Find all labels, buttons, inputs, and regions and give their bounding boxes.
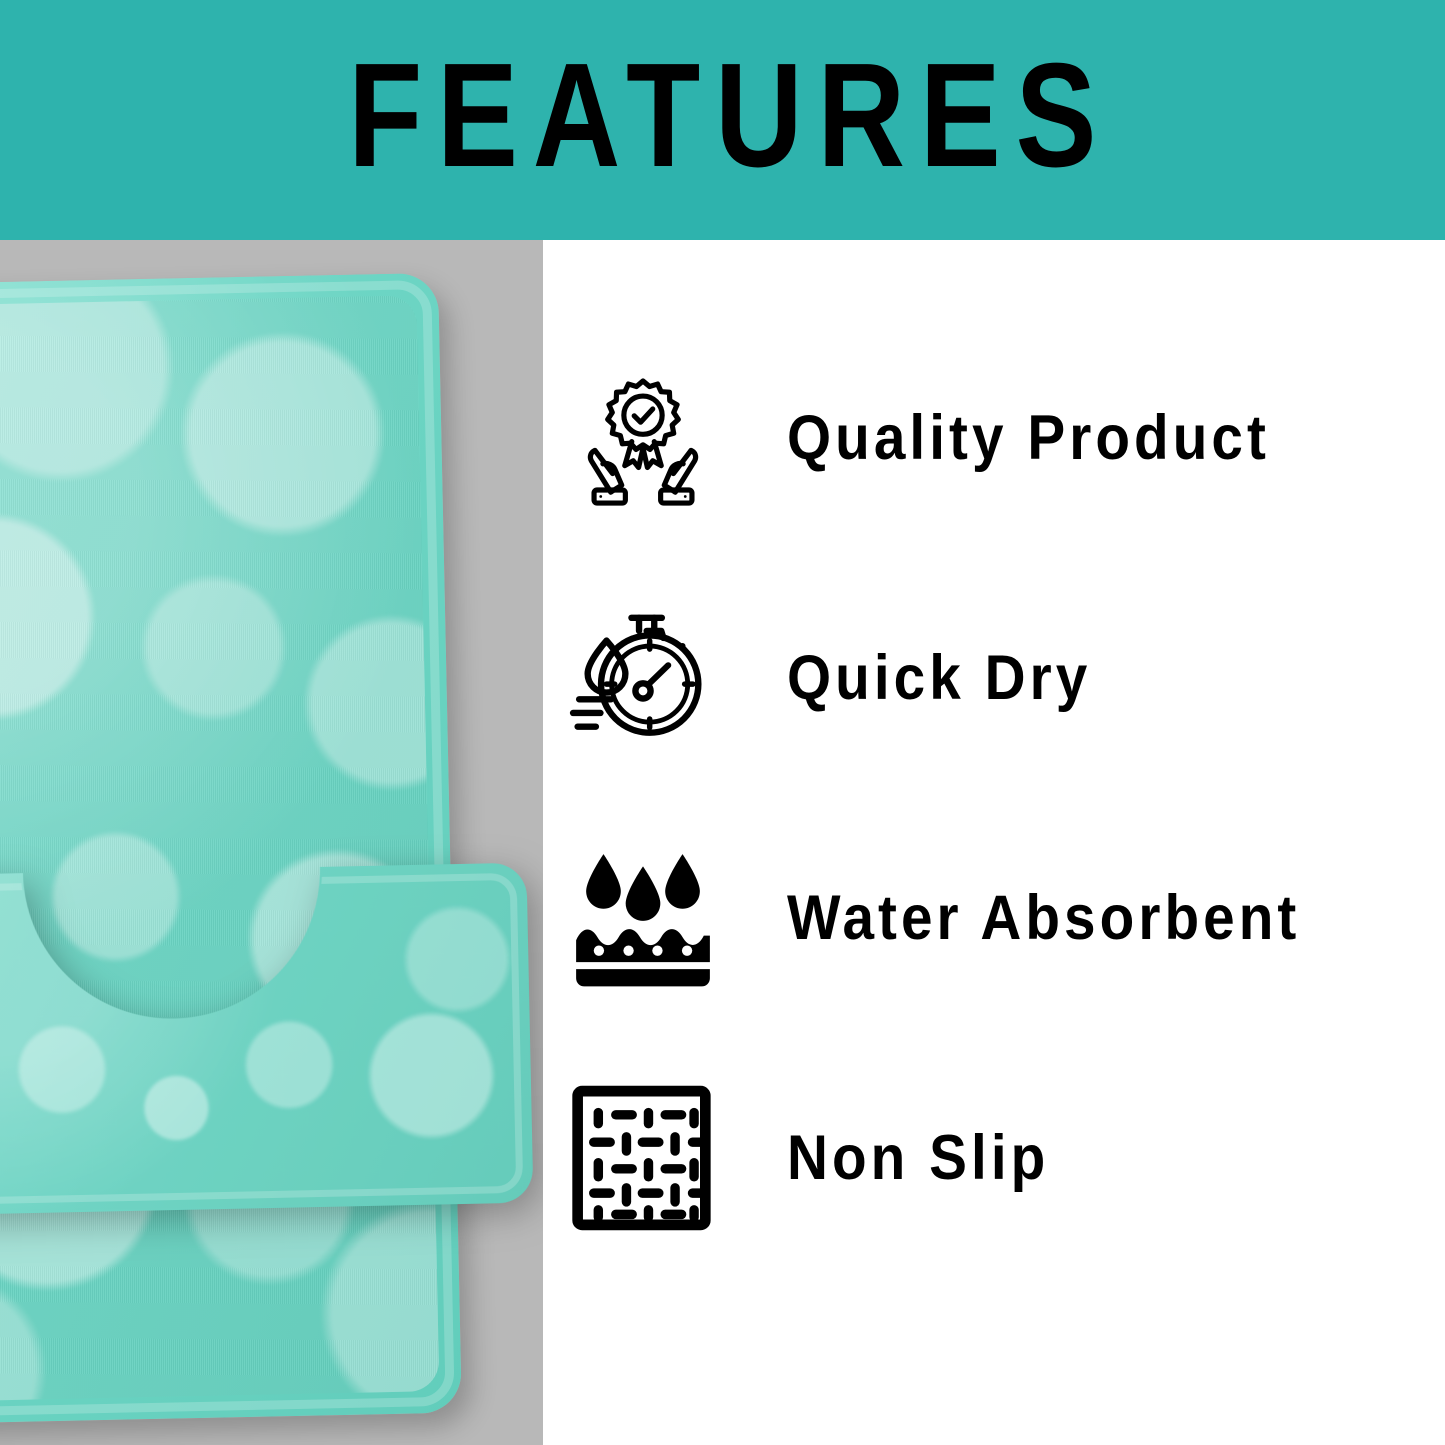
feature-label-quality-product: Quality Product bbox=[787, 407, 1270, 470]
feature-label-quick-dry: Quick Dry bbox=[787, 647, 1091, 710]
header-band: FEATURES bbox=[0, 0, 1445, 240]
feature-row-water-absorbent: Water Absorbent bbox=[543, 798, 1445, 1038]
contour-mat-border-rim bbox=[0, 873, 523, 1207]
infographic-page: FEATURES bbox=[0, 0, 1445, 1445]
water-drops-absorbent-layer-icon bbox=[567, 842, 719, 994]
feature-row-quick-dry: Quick Dry bbox=[543, 558, 1445, 798]
rectangular-bath-mat bbox=[0, 273, 462, 1427]
feature-list: Quality Product bbox=[543, 240, 1445, 1445]
page-title: FEATURES bbox=[334, 42, 1112, 190]
hands-holding-award-badge-icon bbox=[567, 362, 719, 514]
mat-border-rim bbox=[0, 280, 455, 1420]
feature-row-quality-product: Quality Product bbox=[543, 318, 1445, 558]
u-shaped-contour-toilet-mat bbox=[0, 863, 533, 1218]
feature-row-non-slip: Non Slip bbox=[543, 1038, 1445, 1278]
stopwatch-water-drop-icon bbox=[567, 602, 719, 754]
product-photo-panel bbox=[0, 240, 543, 1445]
non-slip-grid-texture-icon bbox=[567, 1082, 719, 1234]
feature-label-non-slip: Non Slip bbox=[787, 1127, 1049, 1190]
feature-label-water-absorbent: Water Absorbent bbox=[787, 887, 1300, 950]
